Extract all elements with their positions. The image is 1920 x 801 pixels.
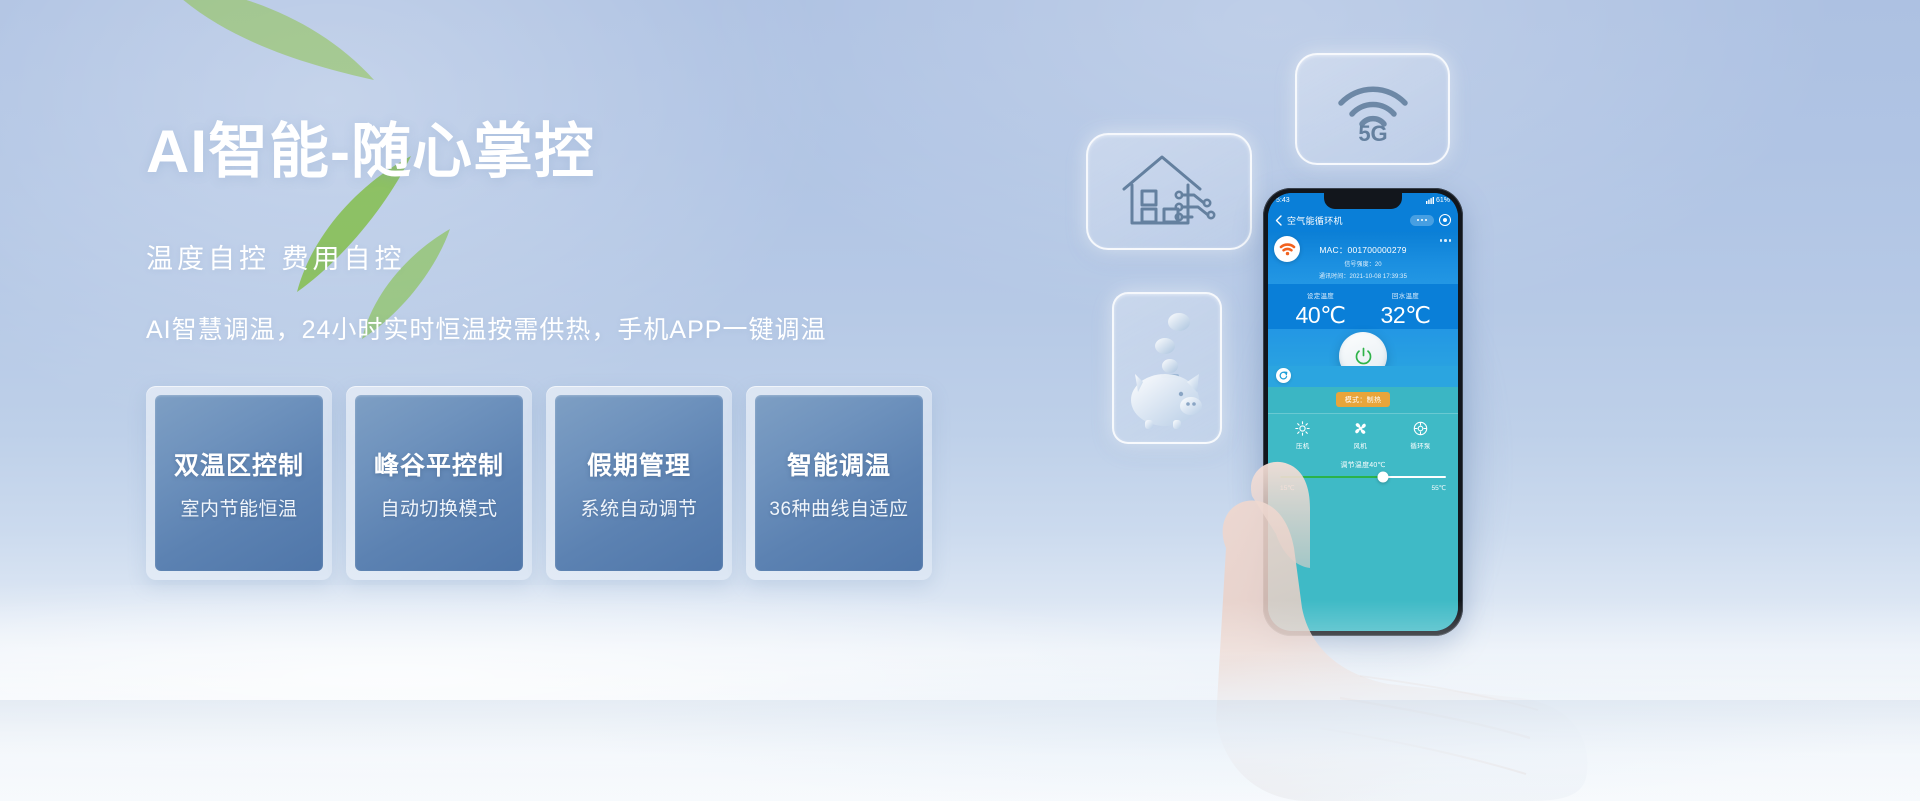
feature-card-subtitle: 36种曲线自适应 xyxy=(769,494,908,521)
control-fan[interactable]: 风机 xyxy=(1353,421,1368,450)
wifi-5g-icon: 5G xyxy=(1331,75,1415,143)
slider-min-label: 15℃ xyxy=(1280,484,1295,492)
hero-banner: AI智能-随心掌控 温度自控 费用自控 AI智慧调温，24小时实时恒温按需供热，… xyxy=(0,0,1920,801)
control-pump[interactable]: 循环泵 xyxy=(1410,421,1430,450)
phone-notch xyxy=(1324,193,1402,209)
hero-description: AI智慧调温，24小时实时恒温按需供热，手机APP一键调温 xyxy=(146,310,966,346)
target-icon[interactable] xyxy=(1439,214,1451,226)
device-info-panel: MAC：001700000279 信号强度：20 通讯时间：2021-10-08… xyxy=(1268,232,1458,284)
control-pump-label: 循环泵 xyxy=(1410,440,1430,450)
feature-card-title: 峰谷平控制 xyxy=(374,446,504,482)
panel-more-icon[interactable] xyxy=(1440,239,1452,242)
refresh-icon xyxy=(1279,371,1288,380)
sun-icon xyxy=(1295,421,1310,436)
set-temperature: 设定温度 40℃ xyxy=(1278,290,1363,329)
slider-range-labels: 15℃ 55℃ xyxy=(1280,484,1446,492)
slider-track[interactable] xyxy=(1280,476,1446,478)
control-icons-row: 压机 xyxy=(1268,421,1458,450)
temperature-slider: 调节温度40℃ 15℃ 55℃ xyxy=(1268,460,1458,492)
fan-icon xyxy=(1353,421,1368,436)
piggy-bank-icon xyxy=(1121,304,1213,432)
feature-card[interactable]: 假期管理 系统自动调节 xyxy=(546,386,732,580)
feature-card[interactable]: 智能调温 36种曲线自适应 xyxy=(746,386,932,580)
statusbar-right: 61% xyxy=(1426,197,1450,204)
slider-max-label: 55℃ xyxy=(1431,484,1446,492)
control-fan-label: 风机 xyxy=(1353,440,1367,450)
control-zone: 压机 xyxy=(1268,413,1458,631)
return-temperature: 回水温度 32℃ xyxy=(1363,290,1448,329)
mist-curve xyxy=(0,585,1920,801)
wifi-icon xyxy=(1274,236,1300,262)
feature-card-inner: 峰谷平控制 自动切换模式 xyxy=(355,395,523,571)
statusbar-battery: 61% xyxy=(1436,197,1450,204)
refresh-row xyxy=(1268,366,1458,387)
ground-shadow xyxy=(0,700,1920,801)
feature-card-inner: 智能调温 36种曲线自适应 xyxy=(755,395,923,571)
slider-fill xyxy=(1280,476,1383,478)
smart-home-icon xyxy=(1118,151,1220,233)
pump-icon xyxy=(1413,421,1428,436)
mist-band-lower xyxy=(0,660,1920,801)
more-dots-icon[interactable] xyxy=(1410,215,1434,226)
control-compressor-label: 压机 xyxy=(1296,440,1310,450)
feature-card[interactable]: 双温区控制 室内节能恒温 xyxy=(146,386,332,580)
hero-subtitle: 温度自控 费用自控 xyxy=(146,237,966,276)
set-temperature-label: 设定温度 xyxy=(1278,290,1363,300)
phone-screen: 5:43 61% 空气能循环机 xyxy=(1268,193,1458,631)
slider-knob[interactable] xyxy=(1377,472,1388,483)
chevron-left-icon[interactable] xyxy=(1275,215,1282,226)
svg-text:5G: 5G xyxy=(1358,121,1387,143)
page-title: AI智能-随心掌控 xyxy=(146,118,966,185)
appbar-title: 空气能循环机 xyxy=(1287,214,1343,227)
status-badge[interactable]: 模式：制热 xyxy=(1336,392,1391,407)
phone-mockup: 5:43 61% 空气能循环机 xyxy=(1247,188,1487,658)
slider-label: 调节温度40℃ xyxy=(1280,460,1446,470)
mist-curve-secondary xyxy=(300,640,1920,801)
mode-zone: 模式：制热 xyxy=(1268,387,1458,413)
control-compressor[interactable]: 压机 xyxy=(1295,421,1310,450)
feature-card-inner: 双温区控制 室内节能恒温 xyxy=(155,395,323,571)
feature-card-title: 双温区控制 xyxy=(174,446,304,482)
leaf-decoration-1 xyxy=(160,0,380,110)
signal-icon xyxy=(1426,197,1434,204)
device-mac: MAC：001700000279 xyxy=(1276,238,1450,256)
feature-card-subtitle: 室内节能恒温 xyxy=(180,494,297,521)
temperature-readouts: 设定温度 40℃ 回水温度 32℃ xyxy=(1268,284,1458,329)
feature-card-subtitle: 系统自动调节 xyxy=(580,494,697,521)
statusbar-time: 5:43 xyxy=(1276,197,1290,204)
glass-card-savings xyxy=(1112,292,1222,444)
hero-copy: AI智能-随心掌控 温度自控 费用自控 AI智慧调温，24小时实时恒温按需供热，… xyxy=(146,118,966,346)
return-temperature-value: 32℃ xyxy=(1363,302,1448,329)
power-icon xyxy=(1354,347,1373,366)
feature-card-list: 双温区控制 室内节能恒温 峰谷平控制 自动切换模式 假期管理 系统自动调节 智能… xyxy=(146,386,932,580)
return-temperature-label: 回水温度 xyxy=(1363,290,1448,300)
glass-card-5g: 5G xyxy=(1295,53,1450,165)
feature-card-inner: 假期管理 系统自动调节 xyxy=(555,395,723,571)
feature-card-title: 智能调温 xyxy=(787,446,891,482)
feature-card[interactable]: 峰谷平控制 自动切换模式 xyxy=(346,386,532,580)
set-temperature-value: 40℃ xyxy=(1278,302,1363,329)
feature-card-subtitle: 自动切换模式 xyxy=(380,494,497,521)
mist-band-upper xyxy=(0,600,1920,720)
refresh-button[interactable] xyxy=(1276,368,1291,383)
device-signal: 信号强度：20 xyxy=(1276,259,1450,268)
phone-frame: 5:43 61% 空气能循环机 xyxy=(1263,188,1463,636)
device-comm-time: 通讯时间：2021-10-08 17:39:35 xyxy=(1276,271,1450,280)
feature-card-title: 假期管理 xyxy=(587,446,691,482)
phone-appbar: 空气能循环机 xyxy=(1268,208,1458,232)
